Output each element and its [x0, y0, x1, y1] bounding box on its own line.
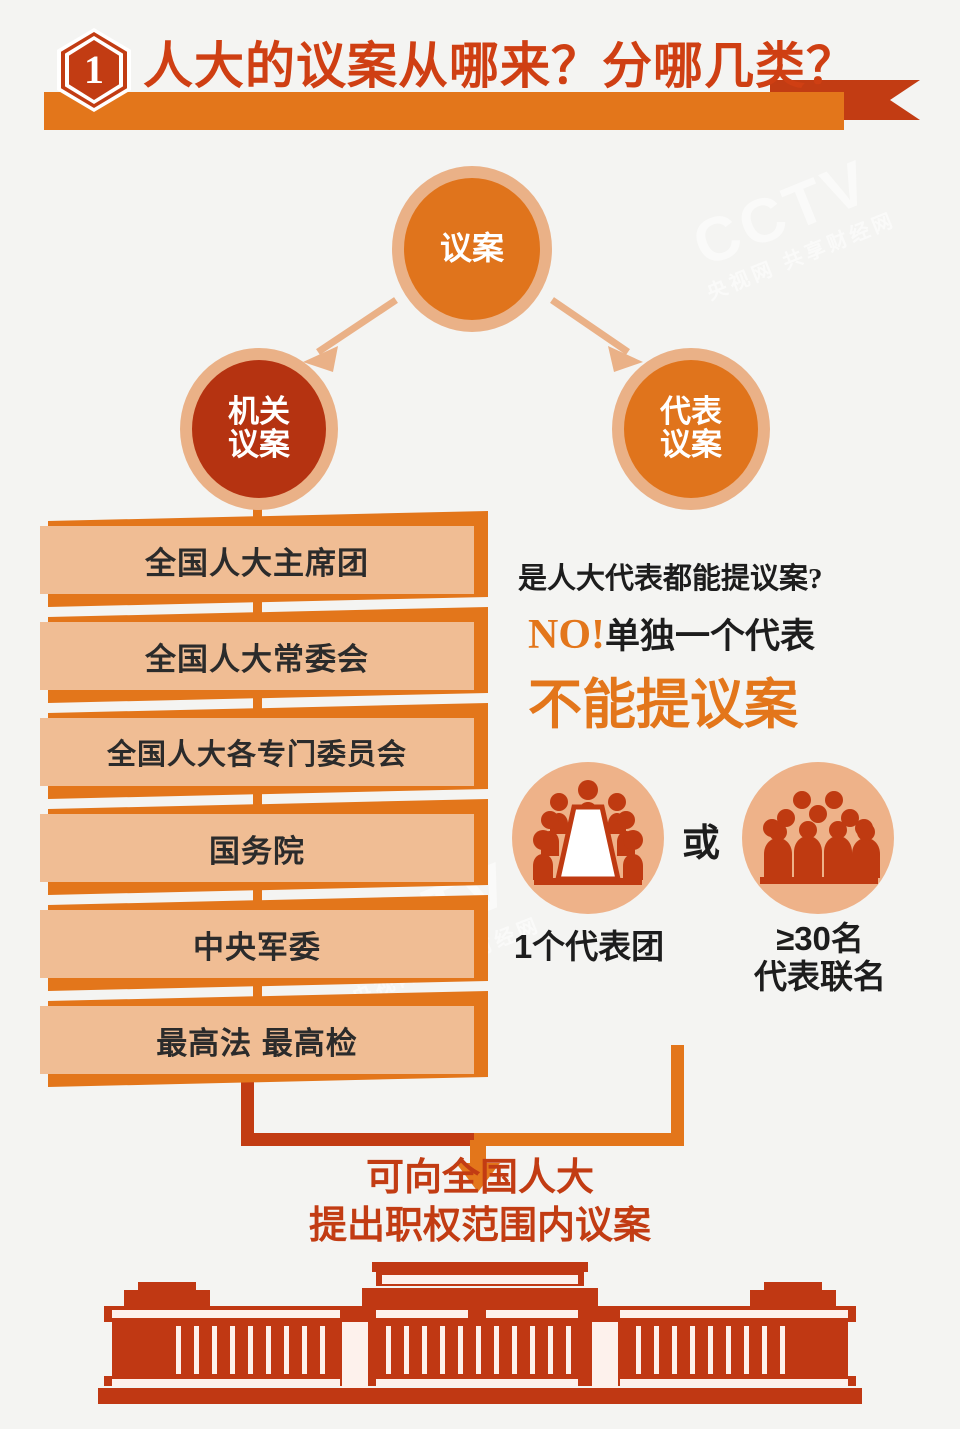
bar-face: 中央军委 — [40, 910, 474, 978]
node-branch-deputy-label: 代表 议案 — [660, 396, 722, 461]
bar-face: 全国人大各专门委员会 — [40, 718, 474, 786]
bar-face: 最高法 最高检 — [40, 1006, 474, 1074]
deputy-question: 是人大代表都能提议案? — [518, 555, 823, 597]
infographic-canvas: CCTV 央视网 共享财经网 CCTV 央视网 共享财经网 1 人大的议案从哪来… — [0, 0, 960, 1429]
option-cosign-caption: ≥30名 代表联名 — [722, 920, 918, 996]
list-item: 国务院 — [34, 802, 480, 898]
node-root-yian: 议案 — [392, 166, 552, 332]
option-delegation-caption: 1个代表团 — [498, 928, 680, 966]
connector-bottom-right-leg — [671, 1045, 684, 1146]
list-item: 全国人大主席团 — [34, 514, 480, 610]
deputy-answer-rest: 单独一个代表 — [605, 617, 815, 656]
great-hall-illustration — [90, 1258, 870, 1408]
node-branch-deputy: 代表 议案 — [612, 348, 770, 510]
organ-label: 最高法 最高检 — [156, 1018, 358, 1063]
page-title: 人大的议案从哪来？分哪几类？ — [143, 26, 857, 98]
organ-label: 中央军委 — [193, 922, 321, 967]
organ-label: 国务院 — [209, 826, 305, 871]
option-cosign-badge — [742, 762, 894, 914]
bar-face: 全国人大常委会 — [40, 622, 474, 690]
watermark-brand-top: CCTV — [683, 146, 881, 281]
bar-face: 全国人大主席团 — [40, 526, 474, 594]
organ-label: 全国人大各专门委员会 — [107, 731, 407, 773]
arrow-to-right-branch — [552, 300, 643, 372]
node-branch-organ: 机关 议案 — [180, 348, 338, 510]
delegation-icon — [512, 762, 664, 914]
bar-face: 国务院 — [40, 814, 474, 882]
arrow-to-left-branch — [303, 300, 396, 372]
connector-bottom-rail-right — [474, 1133, 684, 1146]
organ-label: 全国人大主席团 — [145, 538, 369, 583]
step-number-badge: 1 — [57, 28, 131, 112]
organ-label: 全国人大常委会 — [145, 634, 369, 679]
list-item: 全国人大各专门委员会 — [34, 706, 480, 802]
connector-bottom-rail-left — [241, 1133, 480, 1146]
deputy-answer-no: NO! — [528, 612, 605, 658]
watermark-sub-top: 央视网 共享财经网 — [702, 203, 900, 305]
crowd-icon — [742, 762, 894, 914]
great-hall-icon — [90, 1258, 870, 1408]
list-item: 中央军委 — [34, 898, 480, 994]
conclusion-text: 可向全国人大 提出职权范围内议案 — [0, 1155, 960, 1250]
deputy-answer-emphasis: 不能提议案 — [528, 660, 798, 739]
list-item: 全国人大常委会 — [34, 610, 480, 706]
node-branch-organ-label: 机关 议案 — [228, 396, 290, 461]
node-root-label: 议案 — [440, 232, 504, 266]
option-delegation-badge — [512, 762, 664, 914]
or-conjunction-label: 或 — [682, 812, 720, 867]
organ-list: 全国人大主席团 全国人大常委会 全国人大各专门委员会 国务院 中央军委 — [34, 514, 480, 1090]
deputy-answer-line: NO!单独一个代表 — [528, 608, 815, 659]
step-number-label: 1 — [84, 50, 104, 90]
list-item: 最高法 最高检 — [34, 994, 480, 1090]
